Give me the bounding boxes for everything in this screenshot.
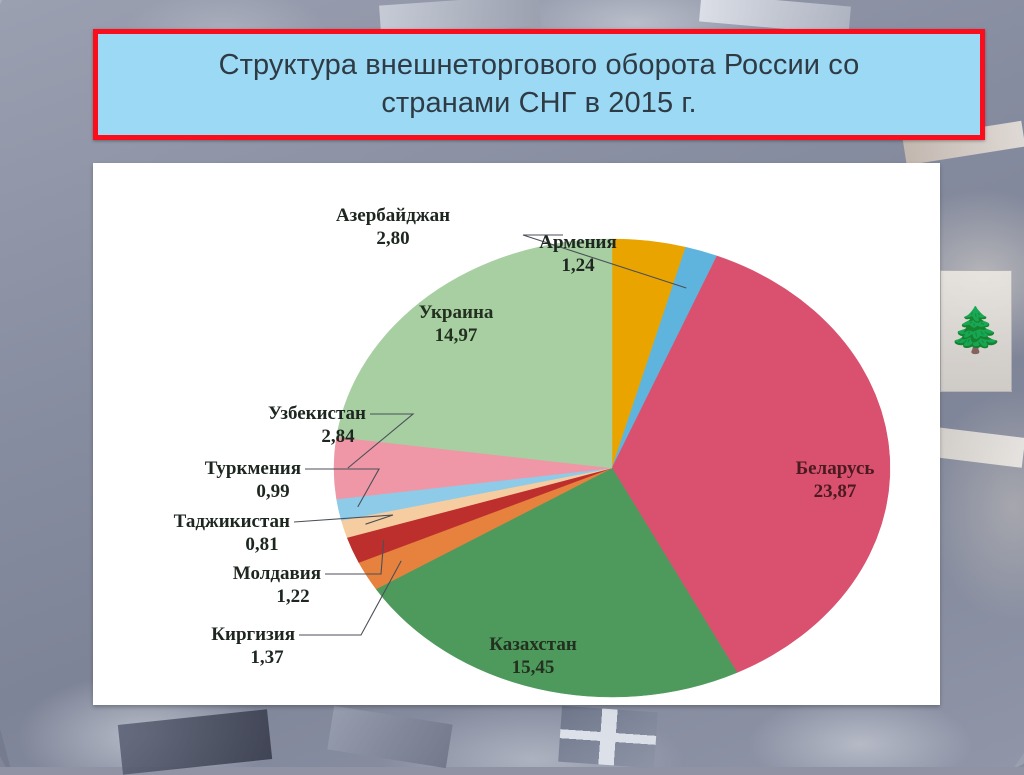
slice-label-value: 1,24	[561, 255, 595, 276]
slice-label-name: Узбекистан	[268, 403, 366, 424]
pie-slice-label: Молдавия1,22	[233, 563, 321, 607]
slice-label-name: Киргизия	[211, 624, 295, 645]
page-title: Структура внешнеторгового оборота России…	[201, 47, 878, 122]
slice-label-name: Казахстан	[489, 634, 577, 655]
slice-label-value: 14,97	[435, 325, 478, 346]
pie-chart: Азербайджан2,80Армения1,24Беларусь23,87К…	[93, 163, 940, 705]
pie-slice-label: Киргизия1,37	[211, 624, 295, 668]
pie-slice-label: Туркмения0,99	[205, 458, 301, 502]
slice-label-value: 1,22	[276, 586, 309, 607]
slice-label-name: Украина	[419, 302, 494, 323]
slice-label-value: 2,80	[376, 228, 409, 249]
slice-label-value: 15,45	[512, 657, 555, 678]
slice-label-value: 23,87	[814, 481, 857, 502]
slice-label-value: 0,81	[245, 534, 278, 555]
decor-flag-bottom	[558, 706, 658, 769]
slice-label-name: Молдавия	[233, 563, 321, 584]
slice-label-name: Беларусь	[796, 458, 875, 479]
pie-slice-label: Азербайджан2,80	[336, 205, 450, 249]
cedar-tree-icon: 🌲	[940, 270, 1012, 392]
slice-label-name: Туркмения	[205, 458, 301, 479]
slice-label-name: Армения	[539, 232, 617, 253]
slice-label-name: Таджикистан	[174, 511, 290, 532]
chart-panel: Азербайджан2,80Армения1,24Беларусь23,87К…	[93, 163, 940, 705]
title-banner: Структура внешнеторгового оборота России…	[93, 29, 985, 140]
slice-label-value: 2,84	[321, 426, 355, 447]
pie-slice-label: Таджикистан0,81	[174, 511, 290, 555]
slice-label-name: Азербайджан	[336, 205, 450, 226]
slice-label-value: 0,99	[256, 481, 289, 502]
decor-shape-bottom-left	[118, 709, 272, 774]
decor-shape-bottom-mid	[327, 706, 452, 768]
slice-label-value: 1,37	[250, 647, 284, 668]
